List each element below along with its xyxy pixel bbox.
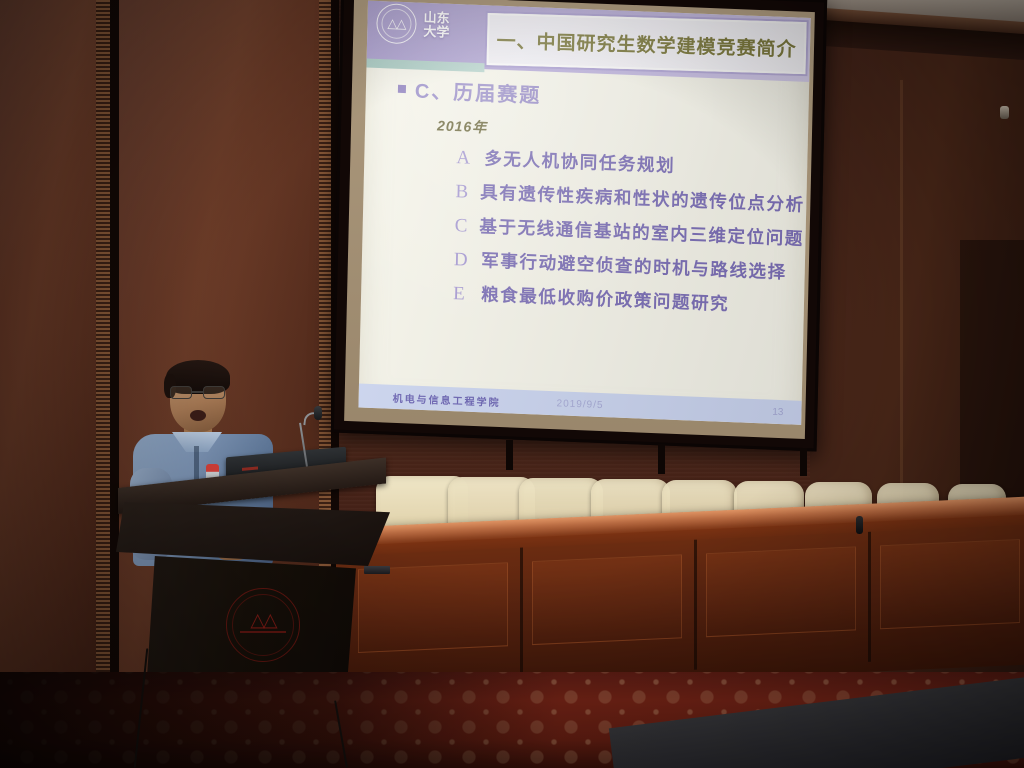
table-divider-3 <box>868 532 871 662</box>
problem-letter: E <box>453 283 470 306</box>
speaker-mouth <box>190 410 206 421</box>
wall-ribbed-strip-1 <box>96 0 110 690</box>
wall-groove-1 <box>110 0 119 690</box>
glasses-icon <box>170 386 228 399</box>
problem-title: 军事行动避空侦查的时机与路线选择 <box>481 247 787 284</box>
table-panel-3 <box>706 546 856 637</box>
screen-border: △△ 山东 大学 一、中国研究生数学建模竞赛简介 C、历届赛题 2016年 <box>344 0 815 439</box>
problem-row: B具有遗传性疾病和性状的遗传位点分析 <box>455 178 788 216</box>
problem-title: 基于无线通信基站的室内三维定位问题 <box>479 213 804 251</box>
table-divider-2 <box>694 540 697 670</box>
problem-title: 多无人机协同任务规划 <box>484 145 675 177</box>
university-crest-icon: △△ <box>226 588 300 662</box>
table-divider-1 <box>520 548 523 678</box>
university-logo: △△ 山东 大学 <box>376 3 450 46</box>
microphone-icon <box>314 406 322 420</box>
shandong-university-seal-icon: △△ <box>376 3 417 45</box>
lecture-hall-photo: △△ 山东 大学 一、中国研究生数学建模竞赛简介 C、历届赛题 2016年 <box>0 0 1024 768</box>
slide-title: 一、中国研究生数学建模竞赛简介 <box>496 26 797 62</box>
problem-row: C基于无线通信基站的室内三维定位问题 <box>454 212 787 250</box>
footer-organization: 机电与信息工程学院 <box>393 389 501 408</box>
slide-footer: 机电与信息工程学院 2019/9/5 13 <box>358 383 801 424</box>
table-panel-4 <box>880 539 1020 629</box>
table-microphone-icon <box>856 516 863 534</box>
ceiling-sensor-icon <box>1000 106 1009 119</box>
seal-mountain-glyph: △△ <box>387 17 405 31</box>
wall-groove-right <box>900 80 903 510</box>
footer-page-number: 13 <box>772 406 783 417</box>
screen-mount-leg-1 <box>506 440 513 470</box>
problem-letter: A <box>456 147 473 170</box>
wall-panel-left-1 <box>0 0 96 690</box>
glasses-bridge <box>192 391 203 393</box>
problem-title: 具有遗传性疾病和性状的遗传位点分析 <box>480 179 805 217</box>
laptop-logo-icon <box>242 466 258 470</box>
glasses-lens-right <box>203 386 225 399</box>
table-panel-2 <box>532 554 682 645</box>
problem-title: 粮食最低收购价政策问题研究 <box>481 281 730 316</box>
presentation-slide: △△ 山东 大学 一、中国研究生数学建模竞赛简介 C、历届赛题 2016年 <box>358 1 810 425</box>
footer-date: 2019/9/5 <box>556 398 603 411</box>
slide-bullet-heading: C、历届赛题 <box>398 74 542 109</box>
crest-bar <box>240 631 286 633</box>
problem-row: E粮食最低收购价政策问题研究 <box>453 280 786 318</box>
problem-letter: B <box>455 181 468 203</box>
university-name: 山东 大学 <box>423 11 450 40</box>
crest-mountain-glyph: △△ <box>250 609 275 631</box>
glasses-lens-left <box>170 386 192 399</box>
slide-year-label: 2016年 <box>437 115 488 137</box>
square-bullet-icon <box>398 84 406 92</box>
problem-row: D军事行动避空侦查的时机与路线选择 <box>454 246 787 284</box>
problem-letter: D <box>454 249 470 272</box>
problem-row: A多无人机协同任务规划 <box>456 144 789 182</box>
problem-list: A多无人机协同任务规划B具有遗传性疾病和性状的遗传位点分析C基于无线通信基站的室… <box>453 144 790 327</box>
bullet-heading-text: C、历届赛题 <box>415 74 542 108</box>
slide-title-box: 一、中国研究生数学建模竞赛简介 <box>487 13 807 74</box>
university-name-line2: 大学 <box>423 25 449 40</box>
carpet-shadow <box>0 672 560 768</box>
problem-letter: C <box>454 215 467 237</box>
